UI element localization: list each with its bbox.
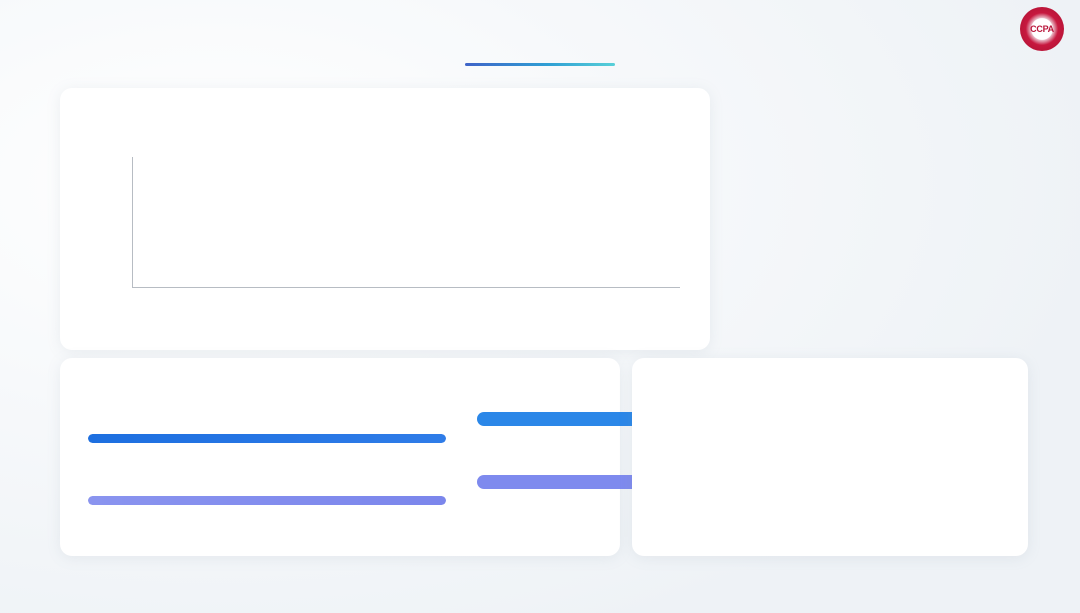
- pie-chart-card: [632, 358, 1028, 556]
- progress-fill-three-north: [88, 434, 446, 443]
- y-axis-tick-labels: [84, 153, 128, 281]
- progress-track-three-north: [88, 434, 446, 443]
- ccpa-logo-icon: [1020, 7, 1064, 51]
- page-header: [0, 0, 1080, 74]
- bar-chart-plot-area: [132, 160, 680, 288]
- bar-series: [132, 159, 680, 287]
- pie-chart-plot-area: [684, 430, 884, 548]
- three-north-card: [60, 358, 620, 556]
- title-underline-accent: [465, 63, 615, 66]
- brand-block: [1020, 7, 1072, 51]
- bar-chart-card: [60, 88, 710, 350]
- progress-track-central-south-east: [88, 496, 446, 505]
- progress-fill-central-south-east: [88, 496, 446, 505]
- regions-panel: [730, 110, 1060, 128]
- pie-chart-svg: [684, 430, 884, 548]
- x-axis-line: [132, 287, 680, 288]
